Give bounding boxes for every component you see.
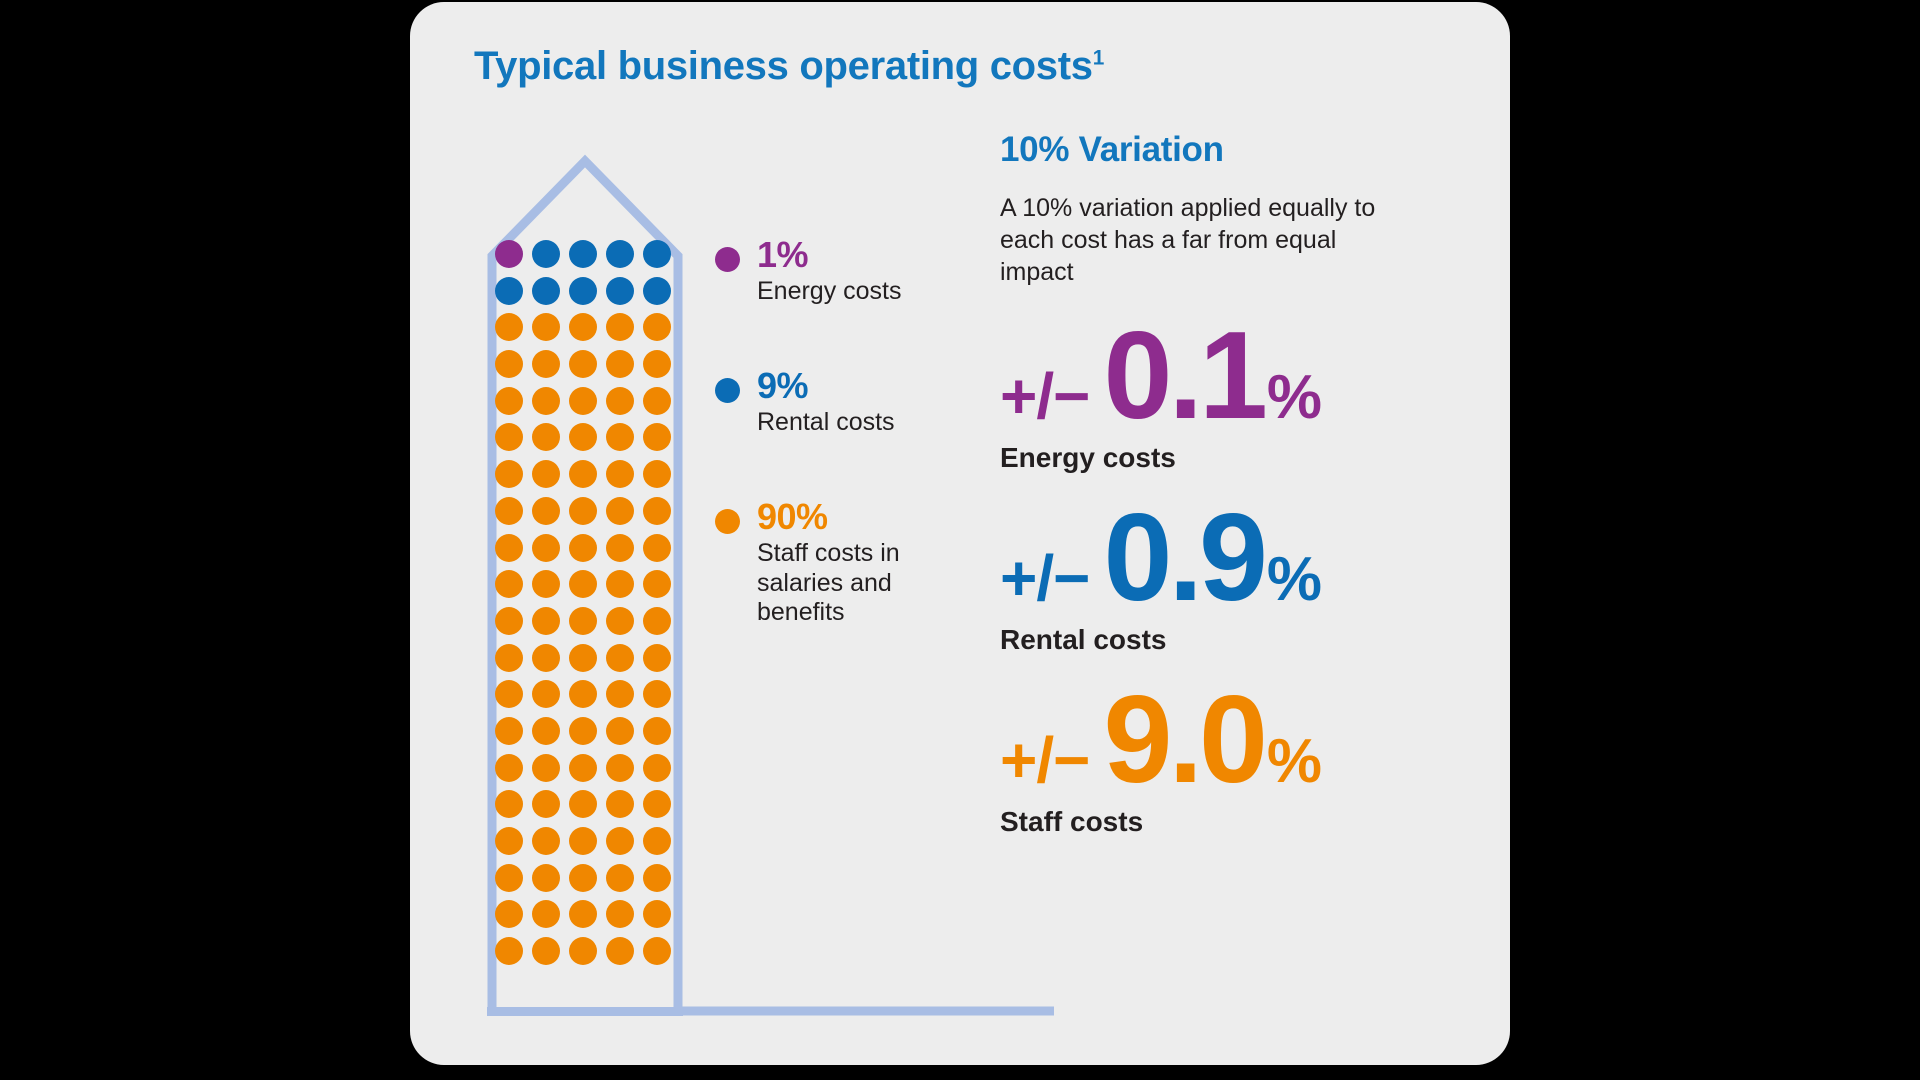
cost-dot: [532, 423, 560, 451]
cost-dot: [643, 790, 671, 818]
variation-stat: +/−0.1%Energy costs: [1000, 314, 1460, 474]
cost-dot: [569, 423, 597, 451]
legend-label: Staff costs in salaries and benefits: [757, 539, 950, 628]
cost-dot: [532, 864, 560, 892]
dot-row: [495, 277, 677, 305]
cost-dot: [569, 827, 597, 855]
dot-row: [495, 570, 677, 598]
cost-dot: [532, 717, 560, 745]
chart-legend: 1%Energy costs9%Rental costs90%Staff cos…: [715, 234, 950, 686]
cost-dot: [606, 277, 634, 305]
screenshot-root: Typical business operating costs1 1%Ener…: [0, 0, 1920, 1080]
cost-dot: [643, 350, 671, 378]
dot-row: [495, 827, 677, 855]
variation-stat-figure: +/−9.0%: [1000, 678, 1460, 802]
cost-dot: [606, 827, 634, 855]
dot-row: [495, 350, 677, 378]
dot-row: [495, 423, 677, 451]
dot-row: [495, 754, 677, 782]
cost-dot: [606, 680, 634, 708]
cost-dot: [569, 607, 597, 635]
cost-dot: [495, 607, 523, 635]
variation-stat-label: Energy costs: [1000, 442, 1460, 474]
cost-dot: [532, 900, 560, 928]
legend-percent: 9%: [757, 365, 950, 406]
cost-dot: [569, 717, 597, 745]
cost-dot: [643, 277, 671, 305]
cost-dot: [569, 313, 597, 341]
variation-stat-unit: %: [1267, 367, 1322, 429]
cost-dot: [495, 313, 523, 341]
cost-dot: [643, 570, 671, 598]
cost-dot: [532, 534, 560, 562]
cost-dot: [569, 350, 597, 378]
dot-row: [495, 534, 677, 562]
cost-dot: [532, 277, 560, 305]
cost-dot: [643, 460, 671, 488]
variation-stat-unit: %: [1267, 731, 1322, 793]
cost-dot: [643, 717, 671, 745]
cost-dot: [532, 497, 560, 525]
cost-dot: [495, 754, 523, 782]
variation-stat-label: Rental costs: [1000, 624, 1460, 656]
variation-stat-figure: +/−0.9%: [1000, 496, 1460, 620]
cost-dot: [495, 240, 523, 268]
cost-dot: [643, 827, 671, 855]
cost-dot: [569, 387, 597, 415]
cost-dot: [569, 754, 597, 782]
cost-dot: [495, 460, 523, 488]
cost-dot: [643, 387, 671, 415]
cost-dot: [495, 717, 523, 745]
cost-dot: [569, 900, 597, 928]
cost-dot: [532, 350, 560, 378]
cost-dot: [606, 534, 634, 562]
cost-dot: [532, 460, 560, 488]
cost-dot: [606, 387, 634, 415]
cost-dot: [495, 937, 523, 965]
cost-dot: [495, 680, 523, 708]
cost-dot: [532, 387, 560, 415]
legend-dot-purple: [715, 247, 740, 272]
variation-stats-list: +/−0.1%Energy costs+/−0.9%Rental costs+/…: [1000, 314, 1460, 838]
infographic-card: Typical business operating costs1 1%Ener…: [410, 2, 1510, 1065]
cost-dot: [643, 313, 671, 341]
cost-dot: [569, 644, 597, 672]
legend-percent: 1%: [757, 234, 950, 275]
dot-row: [495, 387, 677, 415]
cost-dot: [643, 680, 671, 708]
dot-row: [495, 864, 677, 892]
cost-dot: [532, 570, 560, 598]
cost-dot: [606, 460, 634, 488]
cost-dot: [532, 937, 560, 965]
dot-row: [495, 644, 677, 672]
cost-dot: [569, 790, 597, 818]
cost-dot: [495, 497, 523, 525]
cost-dot: [606, 313, 634, 341]
cost-dot: [569, 680, 597, 708]
cost-dot: [643, 937, 671, 965]
cost-dot: [569, 277, 597, 305]
legend-dot-blue: [715, 378, 740, 403]
plus-minus-symbol: +/−: [1000, 728, 1090, 792]
cost-dot: [532, 240, 560, 268]
legend-item: 9%Rental costs: [715, 365, 950, 438]
variation-stat-value: 0.9: [1104, 496, 1264, 620]
cost-dot: [643, 644, 671, 672]
dot-row: [495, 460, 677, 488]
dot-row: [495, 937, 677, 965]
cost-dot: [495, 900, 523, 928]
cost-dot: [606, 790, 634, 818]
cost-dot: [569, 460, 597, 488]
cost-dot: [495, 827, 523, 855]
legend-label: Energy costs: [757, 277, 950, 307]
cost-dot: [532, 313, 560, 341]
plus-minus-symbol: +/−: [1000, 546, 1090, 610]
legend-percent: 90%: [757, 496, 950, 537]
legend-dot-orange: [715, 509, 740, 534]
page-title-superscript: 1: [1093, 47, 1104, 70]
cost-dot: [606, 423, 634, 451]
dot-row: [495, 497, 677, 525]
cost-dot: [495, 790, 523, 818]
cost-dot: [643, 240, 671, 268]
cost-dot: [569, 864, 597, 892]
cost-dot: [532, 644, 560, 672]
cost-dot: [495, 570, 523, 598]
cost-dot: [643, 754, 671, 782]
legend-item: 1%Energy costs: [715, 234, 950, 307]
cost-dot: [532, 827, 560, 855]
variation-panel: 10% Variation A 10% variation applied eq…: [1000, 130, 1460, 860]
cost-dot: [606, 717, 634, 745]
cost-dot: [606, 864, 634, 892]
cost-dot: [643, 534, 671, 562]
cost-dot: [495, 534, 523, 562]
variation-stat-unit: %: [1267, 549, 1322, 611]
cost-dot: [495, 644, 523, 672]
cost-dot: [643, 607, 671, 635]
cost-dot: [532, 790, 560, 818]
cost-dot: [606, 350, 634, 378]
cost-dot: [532, 680, 560, 708]
variation-stat-figure: +/−0.1%: [1000, 314, 1460, 438]
variation-stat: +/−0.9%Rental costs: [1000, 496, 1460, 656]
dot-row: [495, 790, 677, 818]
dot-row: [495, 607, 677, 635]
cost-dot: [495, 350, 523, 378]
cost-dot: [643, 864, 671, 892]
cost-dot: [495, 387, 523, 415]
cost-dot: [569, 570, 597, 598]
cost-dot: [532, 754, 560, 782]
cost-dot: [569, 240, 597, 268]
cost-dot: [495, 864, 523, 892]
cost-dot: [606, 570, 634, 598]
cost-dot: [606, 607, 634, 635]
dot-row: [495, 900, 677, 928]
cost-dot: [606, 644, 634, 672]
variation-stat-label: Staff costs: [1000, 806, 1460, 838]
variation-stat-value: 0.1: [1104, 314, 1264, 438]
cost-dot: [495, 277, 523, 305]
dot-row: [495, 717, 677, 745]
legend-label: Rental costs: [757, 408, 950, 438]
cost-dot: [569, 937, 597, 965]
plus-minus-symbol: +/−: [1000, 364, 1090, 428]
cost-dot: [606, 754, 634, 782]
dot-row: [495, 313, 677, 341]
cost-dot: [606, 240, 634, 268]
cost-dot: [606, 937, 634, 965]
cost-dot: [532, 607, 560, 635]
cost-dot: [643, 423, 671, 451]
cost-dot: [495, 423, 523, 451]
cost-dot: [606, 900, 634, 928]
variation-stat-value: 9.0: [1104, 678, 1264, 802]
cost-dot: [643, 900, 671, 928]
legend-item: 90%Staff costs in salaries and benefits: [715, 496, 950, 628]
variation-heading: 10% Variation: [1000, 130, 1460, 170]
ground-line-icon: [680, 1006, 1060, 1016]
cost-dot: [569, 497, 597, 525]
cost-dot: [606, 497, 634, 525]
variation-description: A 10% variation applied equally to each …: [1000, 192, 1385, 288]
cost-dot: [569, 534, 597, 562]
variation-stat: +/−9.0%Staff costs: [1000, 678, 1460, 838]
cost-dot: [643, 497, 671, 525]
dot-chart: 1%Energy costs9%Rental costs90%Staff cos…: [410, 2, 970, 1065]
dot-grid: [495, 240, 677, 965]
dot-row: [495, 240, 677, 268]
dot-row: [495, 680, 677, 708]
